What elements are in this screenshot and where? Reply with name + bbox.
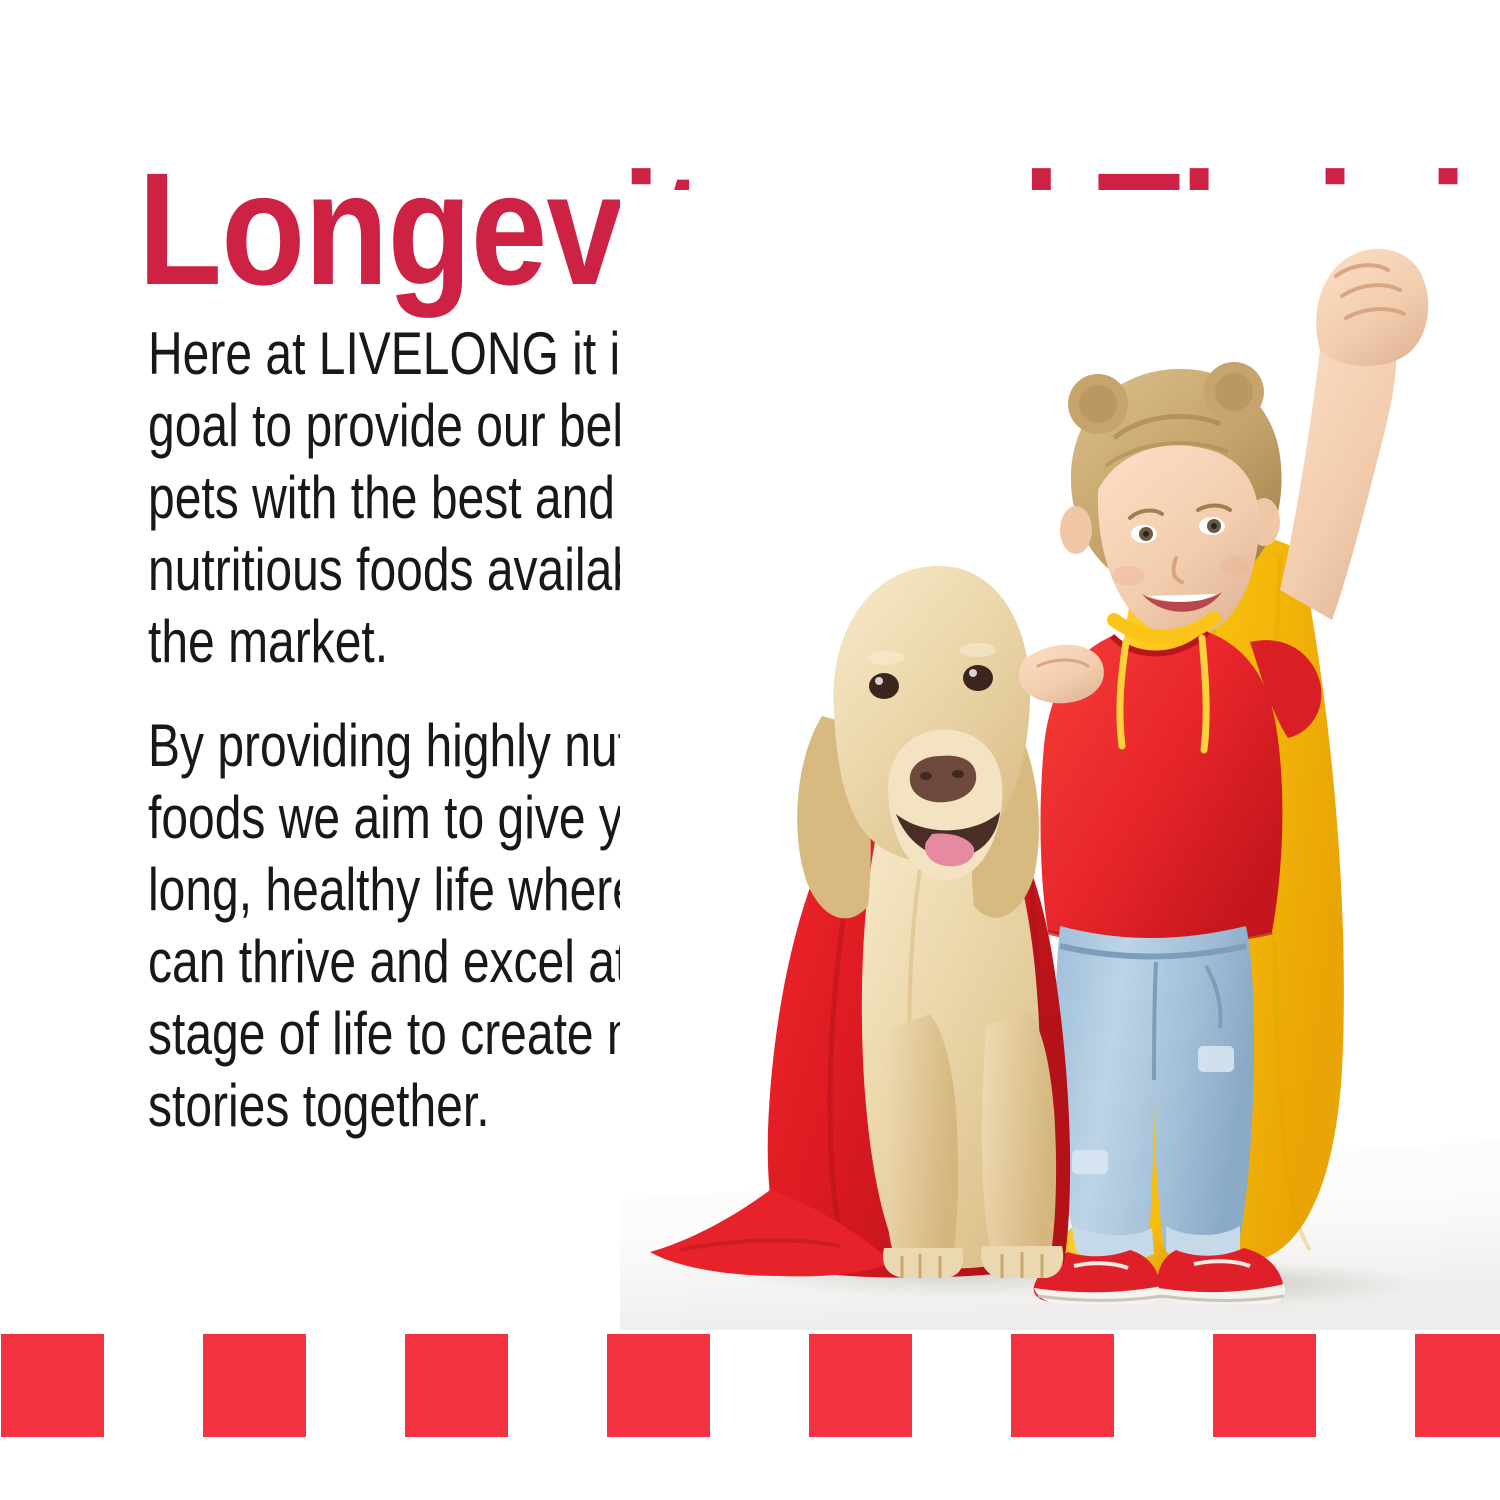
dog-leg-left <box>883 1014 958 1270</box>
decorative-square <box>1415 1334 1500 1437</box>
decorative-square <box>1 1334 104 1437</box>
decorative-square <box>405 1334 508 1437</box>
hero-photo <box>620 190 1500 1330</box>
decorative-square <box>203 1334 306 1437</box>
dog-leg-right <box>982 1012 1056 1269</box>
dog-paw-left <box>883 1248 963 1278</box>
decorative-square <box>1213 1334 1316 1437</box>
decorative-square <box>809 1334 912 1437</box>
dog-eye-left <box>869 673 899 699</box>
decorative-square-strip <box>0 1334 1500 1444</box>
decorative-square <box>607 1334 710 1437</box>
decorative-square <box>1011 1334 1114 1437</box>
poster-canvas: Longevity and Thriving Life Here at LIVE… <box>0 0 1500 1500</box>
dog-eye-right <box>963 665 993 691</box>
